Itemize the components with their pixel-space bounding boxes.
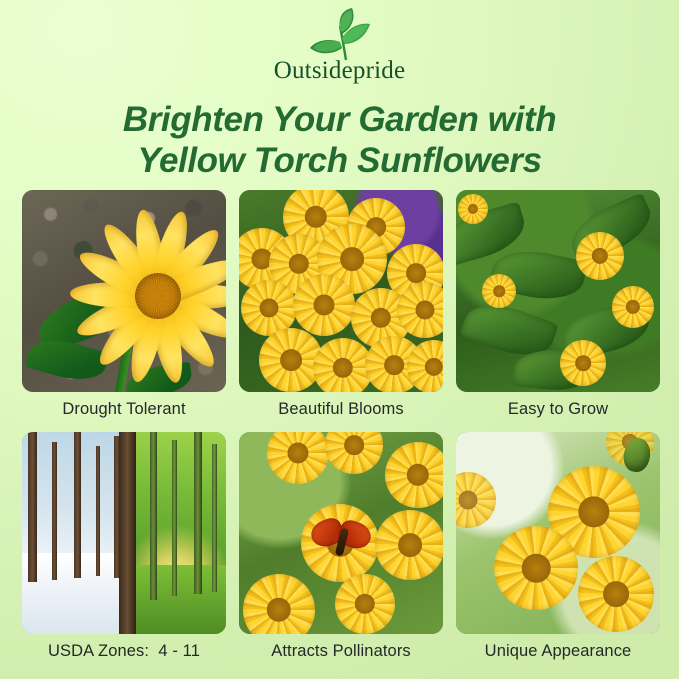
feature-image-attracts-pollinators: [239, 432, 443, 634]
feature-card-usda-zones: USDA Zones: 4 - 11: [22, 432, 226, 668]
headline-line-2: Yellow Torch Sunflowers: [0, 141, 679, 182]
feature-card-attracts-pollinators: Attracts Pollinators: [239, 432, 443, 668]
page-title: Brighten Your Garden with Yellow Torch S…: [0, 100, 679, 181]
feature-card-beautiful-blooms: Beautiful Blooms: [239, 190, 443, 426]
leaf-sprig-icon: [286, 8, 394, 64]
feature-image-unique-appearance: [456, 432, 660, 634]
brand-name: Outsidepride: [274, 58, 406, 83]
feature-card-drought-tolerant: Drought Tolerant: [22, 190, 226, 426]
feature-caption-drought-tolerant: Drought Tolerant: [22, 392, 226, 426]
feature-card-unique-appearance: Unique Appearance: [456, 432, 660, 668]
feature-image-drought-tolerant: [22, 190, 226, 392]
feature-image-beautiful-blooms: [239, 190, 443, 392]
feature-caption-usda-zones: USDA Zones: 4 - 11: [22, 634, 226, 668]
feature-image-easy-to-grow: [456, 190, 660, 392]
feature-caption-unique-appearance: Unique Appearance: [456, 634, 660, 668]
feature-card-easy-to-grow: Easy to Grow: [456, 190, 660, 426]
brand-logo: Outsidepride: [0, 8, 679, 83]
feature-caption-easy-to-grow: Easy to Grow: [456, 392, 660, 426]
feature-caption-beautiful-blooms: Beautiful Blooms: [239, 392, 443, 426]
butterfly-icon: [311, 518, 373, 562]
feature-grid: Drought Tolerant Beautiful Bl: [22, 190, 657, 668]
headline-line-1: Brighten Your Garden with: [123, 100, 556, 139]
feature-image-usda-zones: [22, 432, 226, 634]
feature-caption-attracts-pollinators: Attracts Pollinators: [239, 634, 443, 668]
promo-graphic: Outsidepride Brighten Your Garden with Y…: [0, 0, 679, 679]
